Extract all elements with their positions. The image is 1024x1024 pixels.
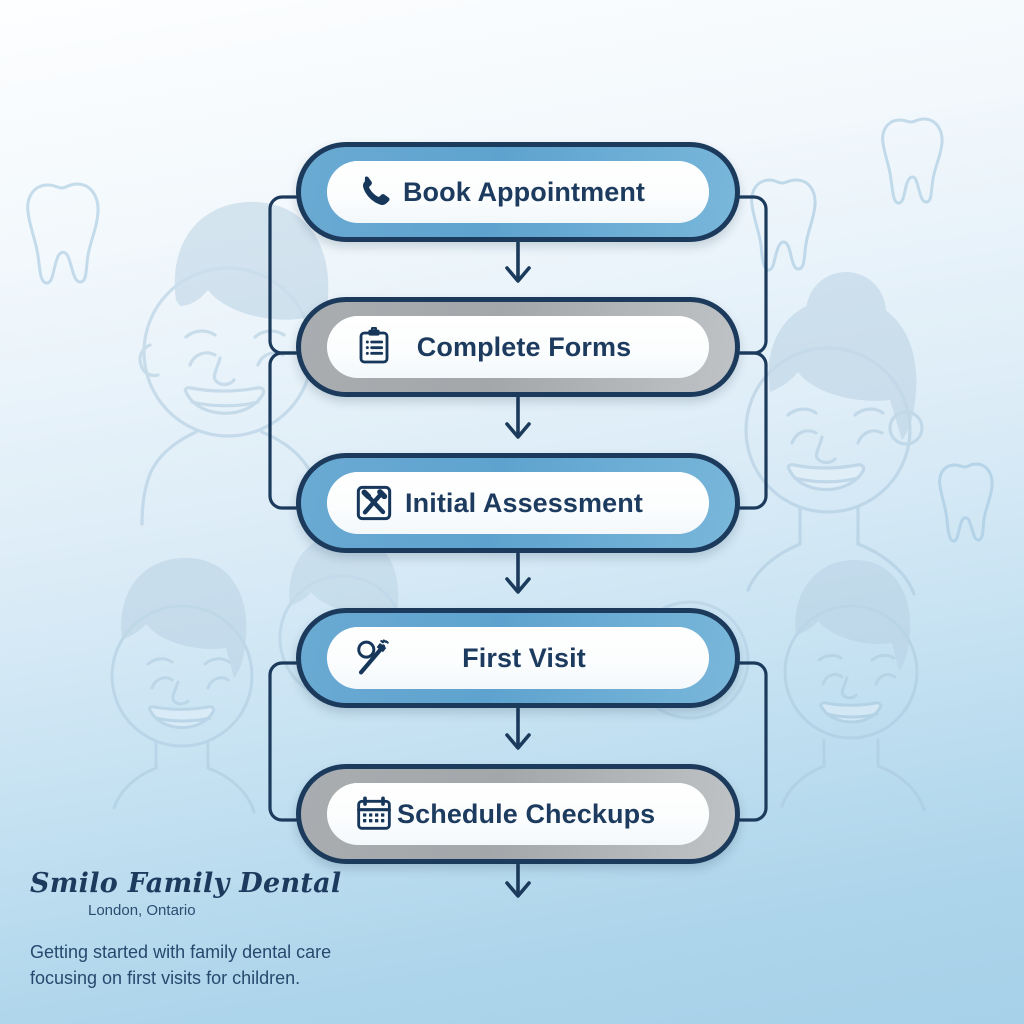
bracket-left-1 — [270, 197, 296, 353]
calendar-icon — [351, 791, 397, 837]
step-inner-panel: First Visit — [327, 627, 709, 689]
step-inner-panel: Schedule Checkups — [327, 783, 709, 845]
brand-name: Smilo Family Dental — [30, 870, 390, 898]
bracket-right-3 — [740, 663, 766, 820]
bracket-left-3 — [270, 663, 296, 820]
step-label: Book Appointment — [397, 177, 709, 208]
flow-step-book-appointment[interactable]: Book Appointment — [296, 142, 740, 242]
arrow-head-1 — [507, 268, 529, 281]
caption-line-1: Getting started with family dental care — [30, 940, 400, 966]
arrow-head-5 — [507, 883, 529, 896]
infographic-canvas: Book Appointment Complete Forms — [0, 0, 1024, 1024]
flow-step-schedule-checkups[interactable]: Schedule Checkups — [296, 764, 740, 864]
bracket-left-2 — [270, 353, 296, 508]
brand-block: Smilo Family Dental London, Ontario — [30, 870, 390, 919]
arrow-head-4 — [507, 735, 529, 748]
step-label: Complete Forms — [397, 332, 709, 363]
step-label: Schedule Checkups — [397, 799, 713, 830]
flow-step-complete-forms[interactable]: Complete Forms — [296, 297, 740, 397]
magnifier-toothbrush-icon — [351, 635, 397, 681]
watermark-boy-right — [782, 560, 924, 810]
phone-icon — [351, 169, 397, 215]
brand-location: London, Ontario — [88, 902, 390, 919]
step-inner-panel: Initial Assessment — [327, 472, 709, 534]
step-inner-panel: Complete Forms — [327, 316, 709, 378]
watermark-mother — [746, 272, 922, 594]
arrow-head-3 — [507, 579, 529, 592]
flow-step-first-visit[interactable]: First Visit — [296, 608, 740, 708]
bracket-right-2 — [740, 353, 766, 508]
step-label: Initial Assessment — [397, 488, 709, 519]
watermark-girl — [112, 558, 254, 812]
caption-line-2: focusing on first visits for children. — [30, 966, 400, 992]
caption-block: Getting started with family dental care … — [30, 940, 400, 991]
step-label: First Visit — [397, 643, 709, 674]
dental-tools-icon — [351, 480, 397, 526]
step-inner-panel: Book Appointment — [327, 161, 709, 223]
arrow-head-2 — [507, 424, 529, 437]
clipboard-icon — [351, 324, 397, 370]
flow-step-initial-assessment[interactable]: Initial Assessment — [296, 453, 740, 553]
bracket-right-1 — [740, 197, 766, 353]
